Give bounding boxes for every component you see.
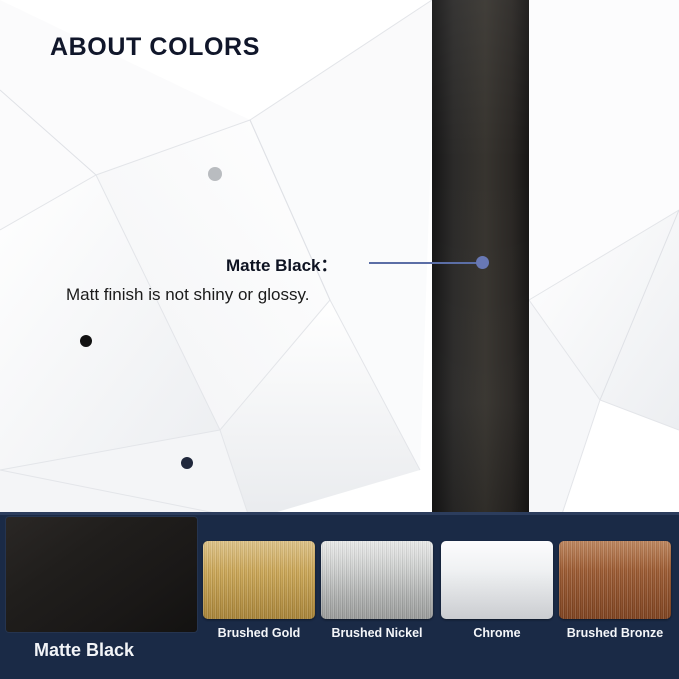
swatch-matte-black[interactable] <box>6 517 197 632</box>
swatch-brushed-bronze[interactable]: Brushed Bronze <box>559 541 671 619</box>
callout-label: Matte Black： <box>226 251 337 276</box>
swatch-chip-brushed-bronze[interactable] <box>559 541 671 619</box>
swatch-label-brushed-nickel: Brushed Nickel <box>321 626 433 640</box>
swatch-label-brushed-bronze: Brushed Bronze <box>559 626 671 640</box>
gloss-overlay <box>441 541 553 619</box>
panel-top-edge <box>0 512 679 515</box>
decorative-dot-gray <box>208 167 222 181</box>
swatch-label-brushed-gold: Brushed Gold <box>203 626 315 640</box>
swatch-chip-brushed-gold[interactable] <box>203 541 315 619</box>
callout-description: Matt finish is not shiny or glossy. <box>66 285 309 305</box>
gloss-overlay <box>321 541 433 619</box>
color-swatch-panel: Matte Black Brushed Gold Brushed Nickel … <box>0 512 679 679</box>
swatch-chip-chrome[interactable] <box>441 541 553 619</box>
callout-leader-line <box>369 262 479 264</box>
swatch-label-chrome: Chrome <box>441 626 553 640</box>
product-color-infographic: ABOUT COLORS Matte Black： Matt finish is… <box>0 0 679 679</box>
callout-leader-dot <box>476 256 489 269</box>
gloss-overlay <box>559 541 671 619</box>
swatch-matte-black-label: Matte Black <box>34 640 134 661</box>
swatch-brushed-gold[interactable]: Brushed Gold <box>203 541 315 619</box>
swatch-chip-brushed-nickel[interactable] <box>321 541 433 619</box>
decorative-dot-black <box>80 335 92 347</box>
swatch-brushed-nickel[interactable]: Brushed Nickel <box>321 541 433 619</box>
page-title: ABOUT COLORS <box>50 33 260 62</box>
gloss-overlay <box>203 541 315 619</box>
decorative-dot-navy <box>181 457 193 469</box>
swatch-chrome[interactable]: Chrome <box>441 541 553 619</box>
